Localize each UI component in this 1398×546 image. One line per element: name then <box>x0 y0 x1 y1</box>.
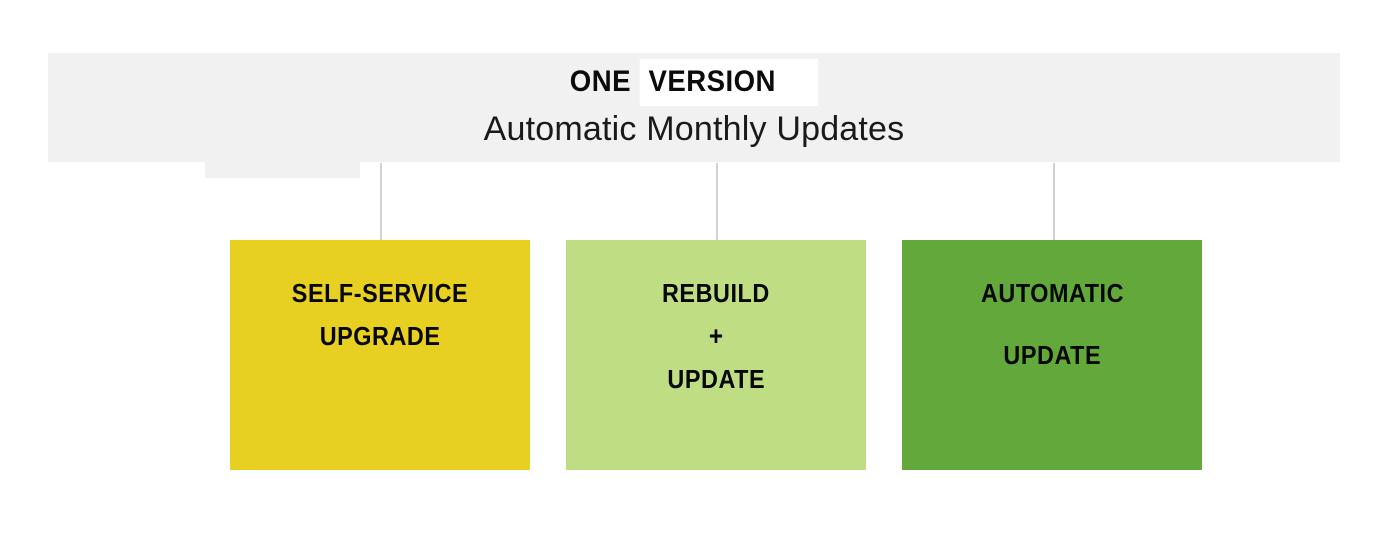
header-title-highlight: VERSION <box>639 59 818 106</box>
card-automatic-update[interactable]: AUTOMATIC UPDATE <box>902 240 1202 470</box>
header-banner-tab <box>205 162 360 178</box>
header-title: ONE VERSION <box>570 62 818 106</box>
diagram-canvas: ONE VERSION Automatic Monthly Updates SE… <box>0 0 1398 546</box>
card-line: UPDATE <box>1003 324 1101 386</box>
header-subtitle: Automatic Monthly Updates <box>484 108 905 150</box>
card-line: SELF-SERVICE <box>292 272 468 315</box>
connector-line-1 <box>380 163 382 241</box>
card-self-service-upgrade[interactable]: SELF-SERVICE UPGRADE <box>230 240 530 470</box>
card-line: AUTOMATIC <box>980 262 1123 324</box>
header-text-block: ONE VERSION Automatic Monthly Updates <box>48 53 1340 162</box>
card-rebuild-update[interactable]: REBUILD + UPDATE <box>566 240 866 470</box>
card-line-plus: + <box>709 315 724 358</box>
card-line: REBUILD <box>662 272 770 315</box>
header-title-plain: ONE <box>570 62 639 102</box>
card-line: UPGRADE <box>320 315 441 358</box>
connector-line-3 <box>1053 163 1055 241</box>
connector-line-2 <box>716 163 718 241</box>
card-line: UPDATE <box>667 358 765 401</box>
